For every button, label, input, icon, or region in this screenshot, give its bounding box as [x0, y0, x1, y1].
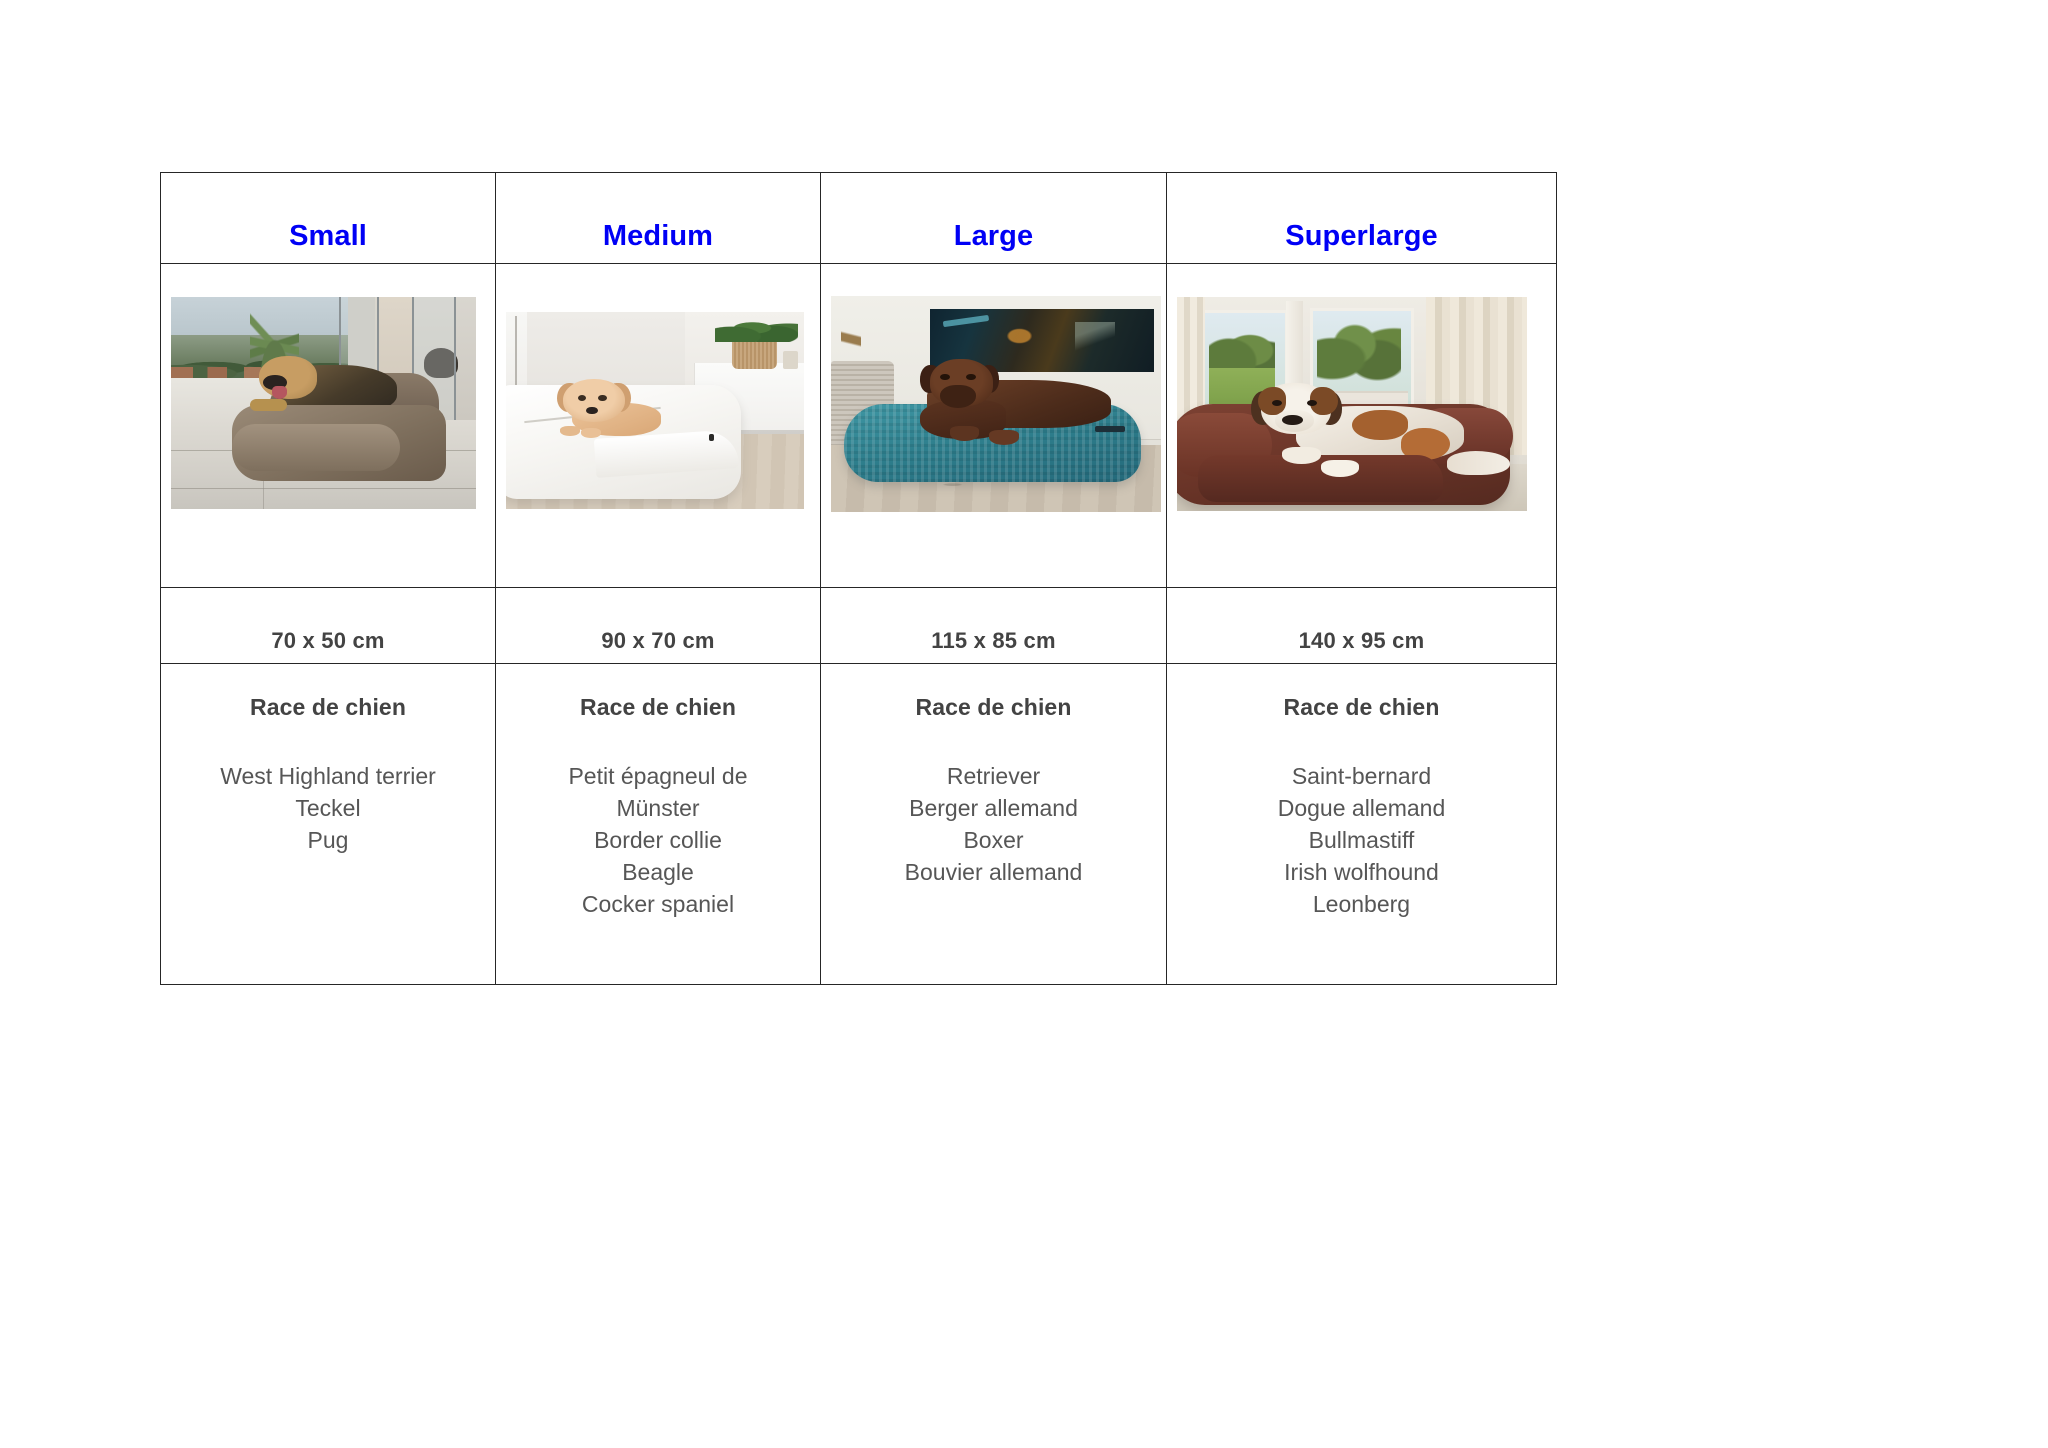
breed-item: West Highland terrier	[171, 760, 485, 792]
photo-branch-decor	[841, 313, 861, 365]
header-cell-superlarge: Superlarge	[1167, 173, 1557, 264]
header-cell-small: Small	[161, 173, 496, 264]
dimensions-cell-small: 70 x 50 cm	[161, 588, 496, 664]
photo-plant	[715, 314, 798, 342]
breed-item: Beagle	[506, 856, 810, 888]
breed-item: Bouvier allemand	[831, 856, 1156, 888]
breed-item: Leonberg	[1177, 888, 1546, 920]
size-label-small: Small	[161, 221, 495, 253]
breed-item: Saint-bernard	[1177, 760, 1546, 792]
photo-bed-front	[1198, 455, 1443, 502]
breed-item: Teckel	[171, 792, 485, 824]
product-photo-superlarge	[1177, 297, 1527, 511]
breed-item: Border collie	[506, 824, 810, 856]
dimensions-medium: 90 x 70 cm	[496, 628, 820, 654]
photo-dog-paw-left	[950, 426, 980, 441]
breeds-cell-large: Race de chien RetrieverBerger allemandBo…	[821, 664, 1167, 985]
dimensions-small: 70 x 50 cm	[161, 628, 495, 654]
dimensions-superlarge: 140 x 95 cm	[1167, 628, 1556, 654]
photo-slot-small	[161, 264, 495, 587]
breed-list-medium: Petit épagneul deMünsterBorder collieBea…	[506, 760, 810, 920]
photo-dog-head	[563, 379, 626, 422]
breed-item: Pug	[171, 824, 485, 856]
photo-tile-seam-2	[171, 488, 476, 489]
breed-item: Boxer	[831, 824, 1156, 856]
photo-dog-eye-right	[1307, 400, 1318, 406]
size-label-superlarge: Superlarge	[1167, 221, 1556, 253]
dimensions-cell-medium: 90 x 70 cm	[496, 588, 821, 664]
photo-dog-tail	[1447, 451, 1510, 475]
product-photo-small	[171, 297, 476, 509]
photo-artwork-detail-2	[1003, 326, 1036, 345]
photo-dog-patch-1	[1352, 410, 1408, 440]
dog-bed-size-table: Small Medium Large Superlarge	[160, 172, 1557, 985]
breed-item: Bullmastiff	[1177, 824, 1546, 856]
breed-title-small: Race de chien	[171, 694, 485, 721]
photo-dog-paw-right	[989, 430, 1019, 445]
dimensions-cell-superlarge: 140 x 95 cm	[1167, 588, 1557, 664]
breeds-cell-small: Race de chien West Highland terrierTecke…	[161, 664, 496, 985]
table-dimensions-row: 70 x 50 cm 90 x 70 cm 115 x 85 cm 140 x …	[161, 588, 1557, 664]
header-cell-large: Large	[821, 173, 1167, 264]
photo-slot-superlarge	[1167, 264, 1556, 587]
photo-slot-medium	[496, 264, 820, 587]
photo-cell-superlarge	[1167, 264, 1557, 588]
photo-dog-paw-right	[1321, 460, 1360, 477]
size-label-medium: Medium	[496, 221, 820, 253]
photo-dog-paw	[250, 399, 287, 412]
breed-item: Irish wolfhound	[1177, 856, 1546, 888]
photo-bed-tag	[709, 434, 714, 441]
breeds-cell-medium: Race de chien Petit épagneul deMünsterBo…	[496, 664, 821, 985]
photo-candle	[783, 351, 798, 369]
breed-item: Petit épagneul de	[506, 760, 810, 792]
photo-cell-medium	[496, 264, 821, 588]
photo-slot-large	[821, 264, 1166, 587]
breeds-cell-superlarge: Race de chien Saint-bernardDogue alleman…	[1167, 664, 1557, 985]
table-breeds-row: Race de chien West Highland terrierTecke…	[161, 664, 1557, 985]
photo-dog-tongue	[272, 386, 287, 399]
breed-list-large: RetrieverBerger allemandBoxerBouvier all…	[831, 760, 1156, 888]
breed-item: Retriever	[831, 760, 1156, 792]
breed-item: Dogue allemand	[1177, 792, 1546, 824]
breed-title-superlarge: Race de chien	[1177, 694, 1546, 721]
photo-cell-large	[821, 264, 1167, 588]
table-header-row: Small Medium Large Superlarge	[161, 173, 1557, 264]
breed-list-small: West Highland terrierTeckelPug	[171, 760, 485, 856]
photo-cell-small	[161, 264, 496, 588]
photo-bed-bolster	[232, 424, 400, 471]
breed-list-superlarge: Saint-bernardDogue allemandBullmastiffIr…	[1177, 760, 1546, 920]
breed-item: Cocker spaniel	[506, 888, 810, 920]
breed-item: Berger allemand	[831, 792, 1156, 824]
photo-hedge-right	[1317, 316, 1401, 387]
dimensions-large: 115 x 85 cm	[821, 628, 1166, 654]
size-label-large: Large	[821, 221, 1166, 253]
product-photo-large	[831, 296, 1161, 512]
breed-item: Münster	[506, 792, 810, 824]
header-cell-medium: Medium	[496, 173, 821, 264]
breed-title-medium: Race de chien	[506, 694, 810, 721]
document-page: Small Medium Large Superlarge	[0, 0, 2048, 1448]
photo-artwork-detail-3	[1075, 322, 1115, 357]
photo-dog-eye-left	[1272, 400, 1283, 406]
photo-bed-label	[1095, 426, 1125, 432]
photo-blind-rod	[515, 316, 517, 387]
photo-dog-eye-left	[940, 374, 950, 380]
table-photo-row	[161, 264, 1557, 588]
dimensions-cell-large: 115 x 85 cm	[821, 588, 1167, 664]
photo-dog-paw-left	[1282, 447, 1321, 464]
product-photo-medium	[506, 312, 804, 509]
breed-title-large: Race de chien	[831, 694, 1156, 721]
